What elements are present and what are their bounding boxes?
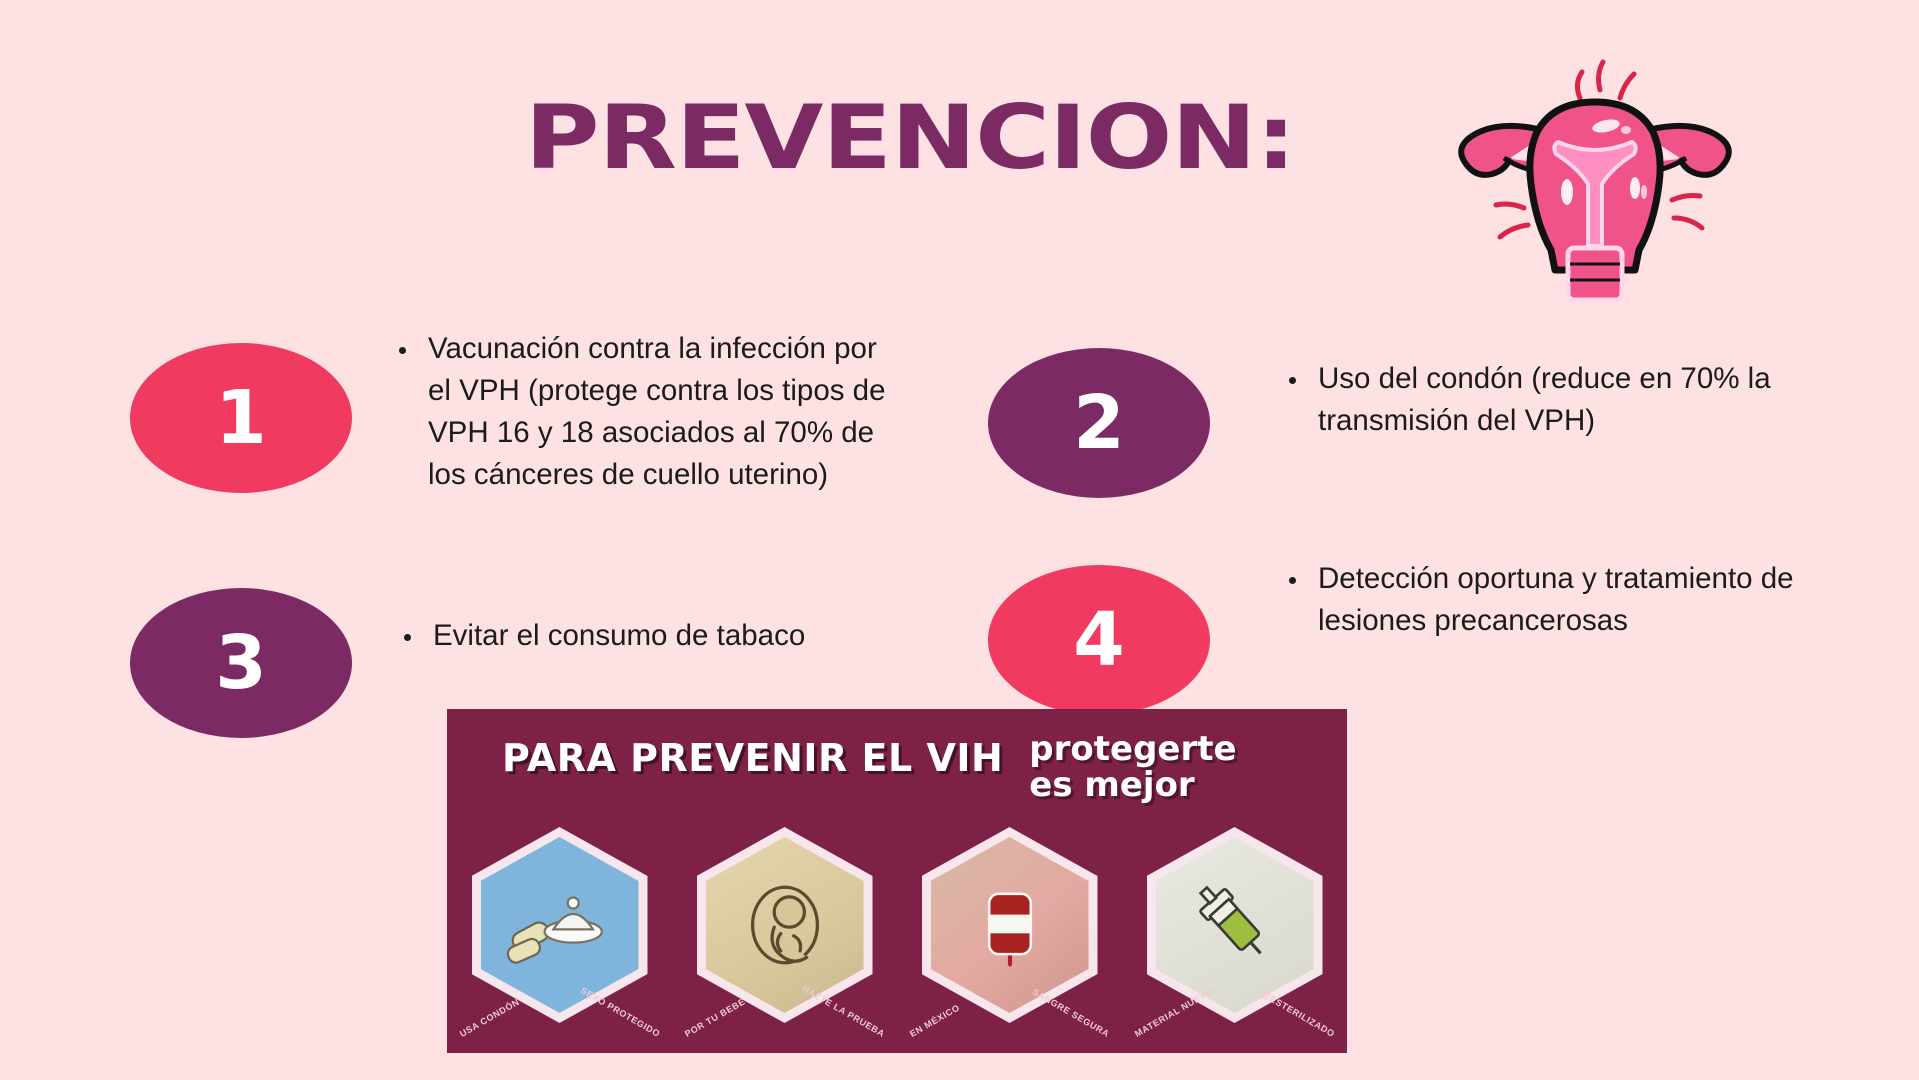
hexagon-caption-right: SEXO PROTEGIDO (579, 985, 662, 1039)
hexagon-syringe: MATERIAL NUEVO @ESTERILIZADO (1140, 827, 1330, 1037)
badge-number: 1 (215, 381, 267, 455)
hexagon-caption-right: @ESTERILIZADO (1260, 989, 1337, 1039)
hexagon-frame (1147, 827, 1323, 1023)
badge-number: 2 (1073, 386, 1125, 460)
banner-header: PARA PREVENIR EL VIH protegerte es mejor (502, 731, 1237, 803)
step-number-badge-2: 2 (988, 348, 1210, 498)
hexagon-caption-left: MATERIAL NUEVO (1133, 986, 1215, 1039)
prevention-item-4: Detección oportuna y tratamiento de lesi… (1280, 558, 1800, 642)
hexagon-frame (697, 827, 873, 1023)
page-title: PREVENCION: (504, 95, 1316, 181)
banner-subtitle-line1: protegerte (1029, 731, 1236, 767)
prevention-item-1: Vacunación contra la infección por el VP… (390, 328, 890, 496)
list-item: Uso del condón (reduce en 70% la transmi… (1310, 358, 1780, 442)
hexagon-frame (922, 827, 1098, 1023)
syringe-icon (1182, 872, 1288, 978)
blood-bag-icon (958, 873, 1062, 977)
step-number-badge-3: 3 (130, 588, 352, 738)
hexagon-background (931, 837, 1089, 1013)
hexagon-condom: USA CONDÓN SEXO PROTEGIDO (465, 827, 655, 1037)
banner-title: PARA PREVENIR EL VIH (502, 731, 1003, 777)
presentation-slide: PREVENCION: (0, 0, 1919, 1080)
list-item: Evitar el consumo de tabaco (425, 615, 875, 657)
prevention-item-2: Uso del condón (reduce en 70% la transmi… (1280, 358, 1780, 442)
fetus-icon (731, 871, 839, 979)
prevention-item-3: Evitar el consumo de tabaco (395, 615, 875, 657)
hexagon-background (1156, 837, 1314, 1013)
banner-subtitle-line2: es mejor (1029, 767, 1236, 803)
hexagon-caption-right: HAZTE LA PRUEBA (800, 984, 886, 1039)
hexagon-background (481, 837, 639, 1013)
hiv-prevention-banner: PARA PREVENIR EL VIH protegerte es mejor (447, 709, 1347, 1053)
banner-subtitle: protegerte es mejor (1029, 731, 1236, 803)
list-item: Detección oportuna y tratamiento de lesi… (1310, 558, 1800, 642)
uterus-illustration (1440, 40, 1750, 310)
list-item: Vacunación contra la infección por el VP… (420, 328, 890, 496)
banner-hexagon-row: USA CONDÓN SEXO PROTEGIDO (447, 827, 1347, 1053)
step-number-badge-1: 1 (130, 343, 352, 493)
condom-icon (505, 870, 615, 980)
hexagon-background (706, 837, 864, 1013)
hexagon-caption-left: EN MÉXICO (908, 1002, 961, 1039)
hexagon-frame (472, 827, 648, 1023)
badge-number: 3 (215, 626, 267, 700)
hexagon-caption-left: POR TU BEBE (683, 996, 747, 1039)
hexagon-baby: POR TU BEBE HAZTE LA PRUEBA (690, 827, 880, 1037)
badge-number: 4 (1073, 603, 1125, 677)
hexagon-caption-right: SANGRE SEGURA (1031, 987, 1112, 1039)
step-number-badge-4: 4 (988, 565, 1210, 715)
hexagon-caption-left: USA CONDÓN (458, 997, 521, 1039)
hexagon-blood: EN MÉXICO SANGRE SEGURA (915, 827, 1105, 1037)
